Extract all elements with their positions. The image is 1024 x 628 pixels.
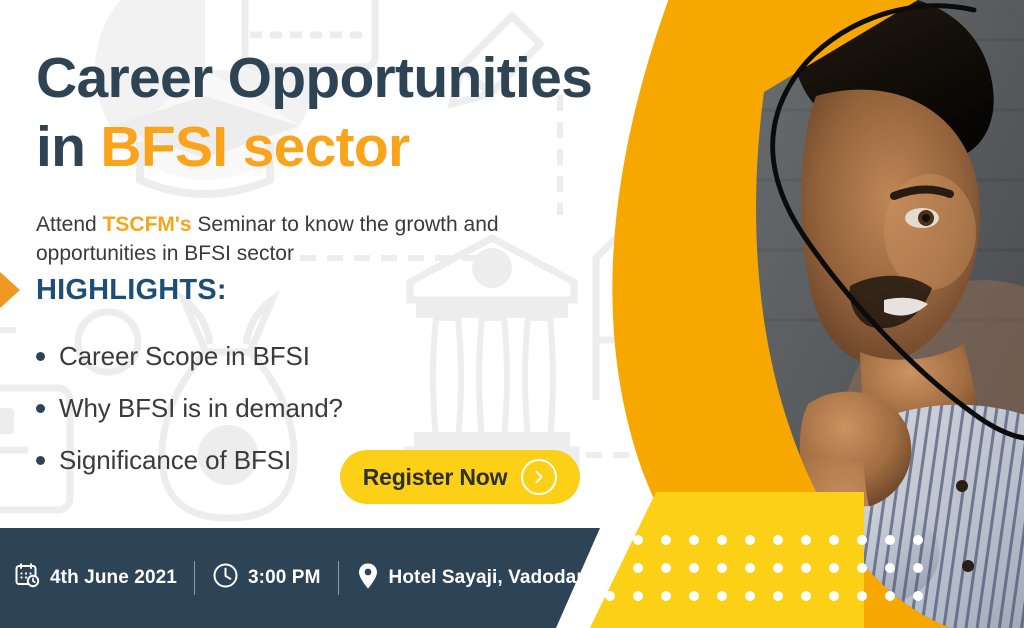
footer-venue-label: Hotel Sayaji, Vadodara (389, 567, 595, 589)
footer-time-label: 3:00 PM (248, 567, 321, 589)
subtitle-brand: TSCFM's (103, 213, 192, 236)
footer-date-label: 4th June 2021 (50, 567, 177, 589)
list-item: Career Scope in BFSI (36, 330, 343, 382)
register-now-button[interactable]: Register Now (340, 450, 580, 504)
highlights-list: Career Scope in BFSI Why BFSI is in dema… (36, 330, 343, 486)
subtitle: Attend TSCFM's Seminar to know the growt… (36, 211, 506, 268)
bullet-dot-icon (36, 352, 45, 361)
footer-item-time: 3:00 PM (212, 562, 321, 594)
location-pin-icon (356, 562, 380, 595)
clock-icon (212, 562, 239, 594)
list-item: Why BFSI is in demand? (36, 382, 343, 434)
chevron-right-circle-icon (521, 459, 557, 495)
list-item-label: Why BFSI is in demand? (59, 393, 343, 424)
list-item-label: Career Scope in BFSI (59, 341, 310, 372)
highlights-header: HIGHLIGHTS: (0, 270, 227, 310)
subtitle-lead: Attend (36, 213, 103, 236)
promo-banner: Career Opportunities in BFSI sector Atte… (0, 0, 1024, 628)
footer-item-date: 4th June 2021 (14, 562, 177, 594)
calendar-icon (14, 562, 41, 594)
footer-bar: 4th June 2021 3:00 PM (0, 528, 660, 628)
highlights-title: HIGHLIGHTS: (36, 274, 227, 307)
footer-item-venue: Hotel Sayaji, Vadodara (356, 562, 595, 595)
bullet-dot-icon (36, 456, 45, 465)
list-item-label: Significance of BFSI (59, 445, 291, 476)
page-title: Career Opportunities in BFSI sector (36, 44, 596, 182)
triangle-right-icon (0, 270, 20, 310)
bullet-dot-icon (36, 404, 45, 413)
title-line-2-lead: in (36, 115, 100, 179)
title-line-1: Career Opportunities (36, 46, 592, 110)
footer-separator (338, 561, 339, 595)
title-line-2-accent: BFSI sector (100, 115, 409, 179)
register-now-label: Register Now (363, 464, 508, 491)
list-item: Significance of BFSI (36, 434, 343, 486)
footer-separator (194, 561, 195, 595)
text-content: Career Opportunities in BFSI sector Atte… (0, 0, 620, 528)
